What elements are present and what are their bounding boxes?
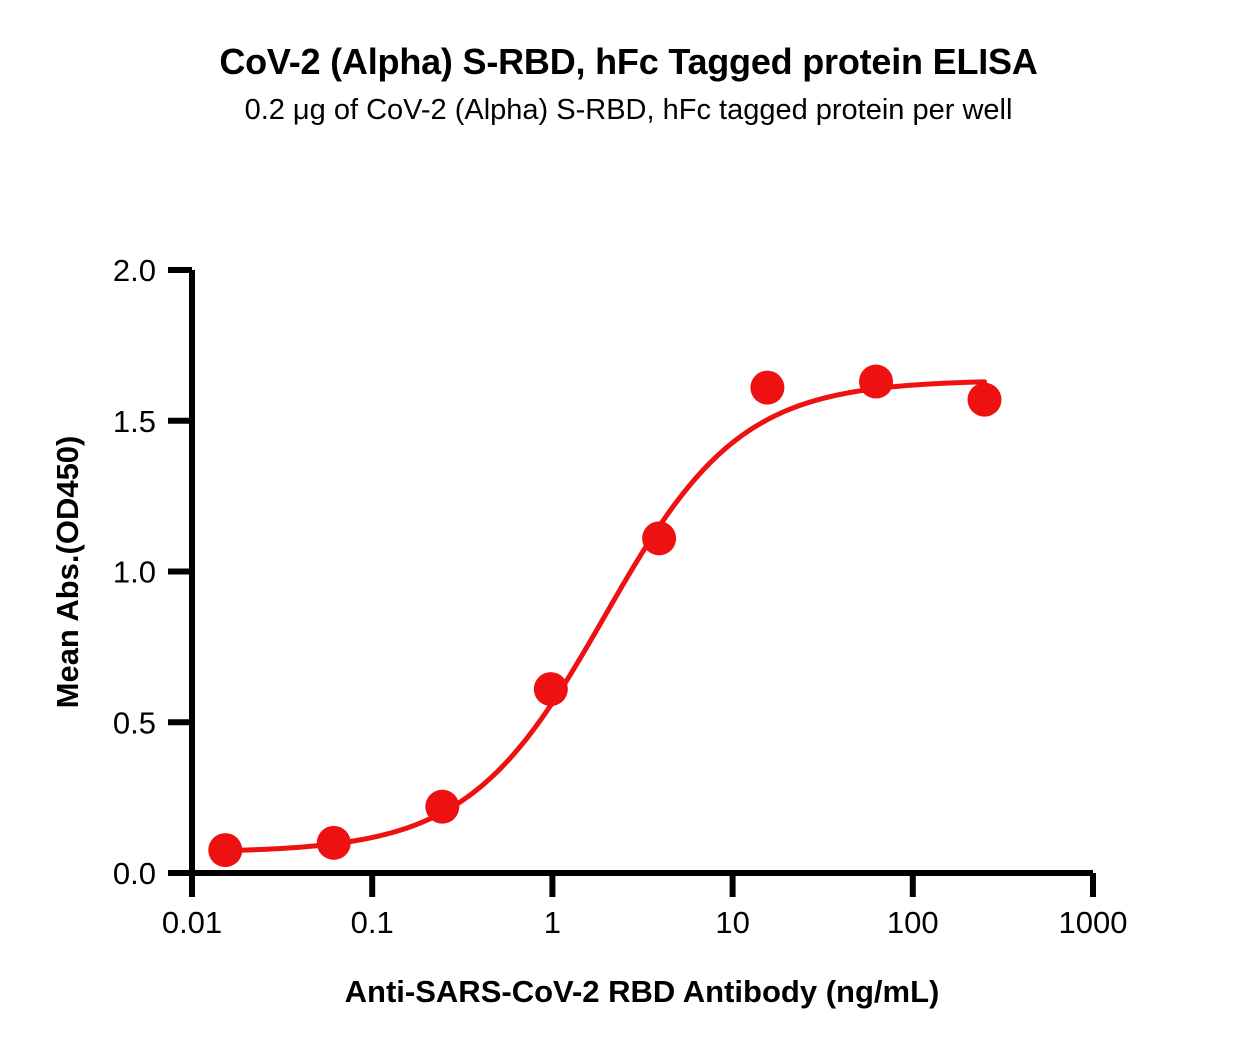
y-tick-label: 0.0 — [113, 856, 156, 891]
x-axis-tick-labels: 0.010.11101001000 — [162, 905, 1128, 940]
data-point — [859, 365, 893, 399]
data-point — [317, 826, 351, 860]
data-point — [750, 371, 784, 405]
x-tick-label: 1000 — [1059, 905, 1128, 940]
x-tick-label: 10 — [715, 905, 749, 940]
y-axis-ticks — [168, 270, 192, 873]
data-point — [642, 521, 676, 555]
x-tick-label: 100 — [887, 905, 939, 940]
elisa-chart-figure: CoV-2 (Alpha) S-RBD, hFc Tagged protein … — [0, 0, 1257, 1047]
axes-group — [192, 270, 1093, 873]
x-axis-ticks — [192, 873, 1093, 897]
y-axis-tick-labels: 0.00.51.01.52.0 — [113, 253, 156, 891]
y-tick-label: 0.5 — [113, 705, 156, 740]
y-tick-label: 2.0 — [113, 253, 156, 288]
fit-curve — [225, 382, 984, 851]
y-tick-label: 1.5 — [113, 404, 156, 439]
data-point — [968, 383, 1002, 417]
y-axis-title: Mean Abs.(OD450) — [50, 436, 85, 709]
data-point — [208, 833, 242, 867]
x-tick-label: 1 — [544, 905, 561, 940]
data-point — [534, 672, 568, 706]
x-tick-label: 0.01 — [162, 905, 222, 940]
plot-area: 0.00.51.01.52.0 0.010.11101001000 Anti-S… — [0, 0, 1257, 1047]
y-tick-label: 1.0 — [113, 555, 156, 590]
x-tick-label: 0.1 — [351, 905, 394, 940]
data-point — [425, 790, 459, 824]
x-axis-title: Anti-SARS-CoV-2 RBD Antibody (ng/mL) — [345, 974, 940, 1009]
